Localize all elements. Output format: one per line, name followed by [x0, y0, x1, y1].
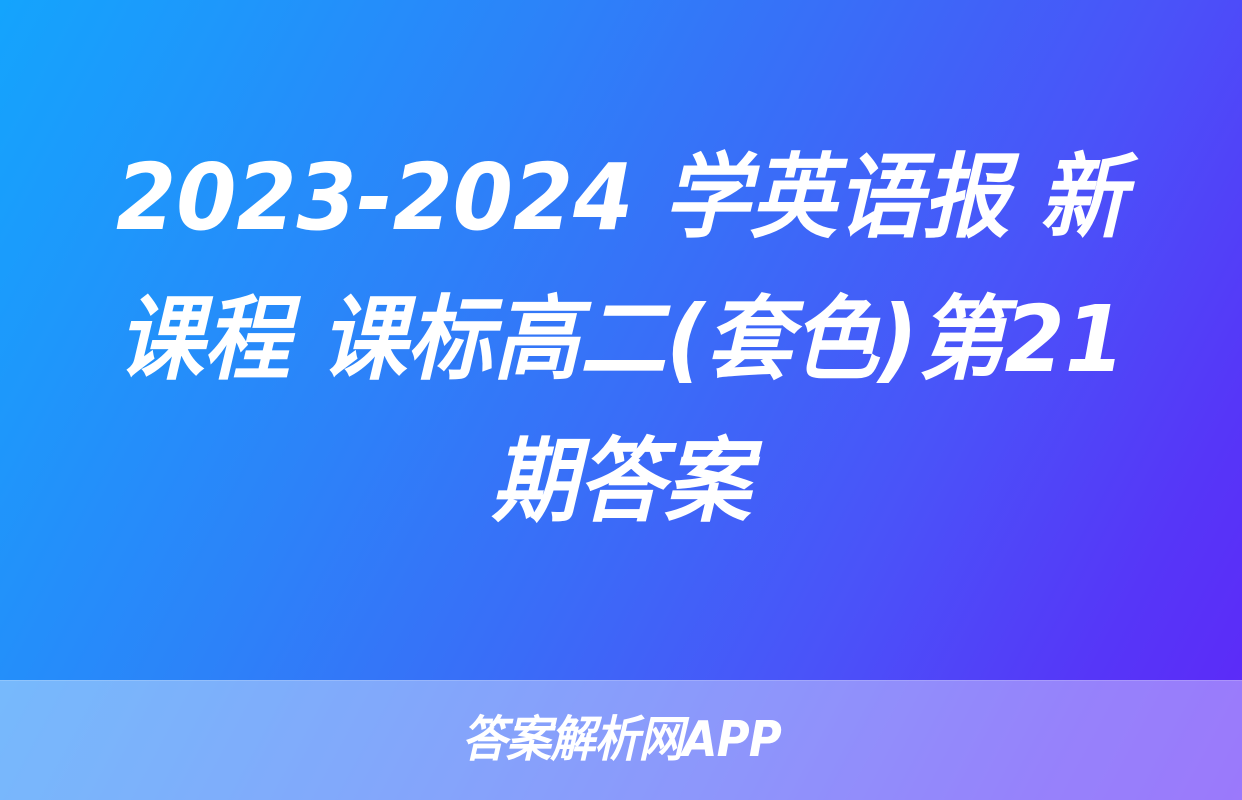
watermark-band: 答案解析网APP	[0, 680, 1242, 800]
page-title: 2023-2024 学英语报 新课程 课标高二(套色)第21期答案	[92, 127, 1150, 553]
watermark-app-label: 答案解析网APP	[461, 712, 780, 768]
band-divider	[0, 680, 1242, 681]
headline-container: 2023-2024 学英语报 新课程 课标高二(套色)第21期答案	[0, 0, 1242, 680]
answer-poster-card: 2023-2024 学英语报 新课程 课标高二(套色)第21期答案 答案解析网A…	[0, 0, 1242, 800]
